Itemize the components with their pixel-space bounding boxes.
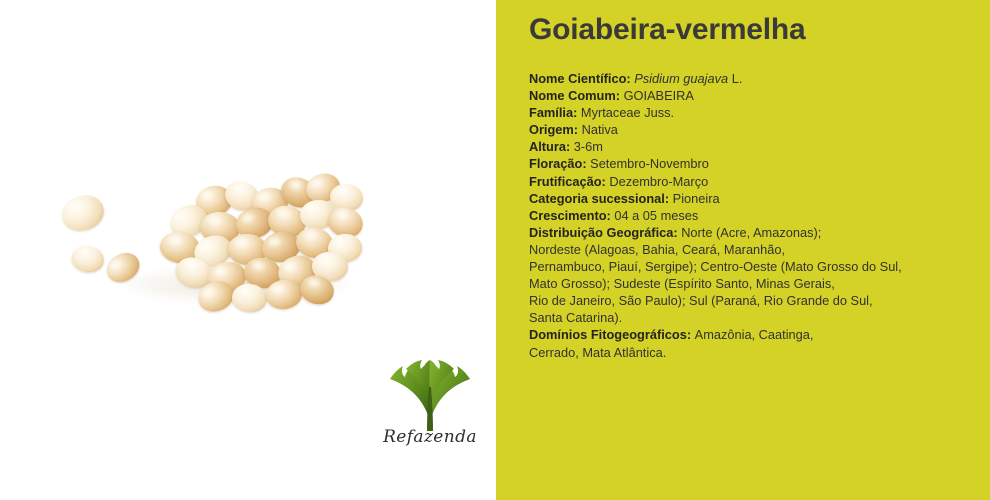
- fact-label: Crescimento:: [529, 208, 614, 223]
- fact-continuation-line: Mato Grosso); Sudeste (Espírito Santo, M…: [529, 275, 959, 292]
- fact-row: Domínios Fitogeográficos: Amazônia, Caat…: [529, 326, 959, 343]
- fact-continuation-line: Santa Catarina).: [529, 309, 959, 326]
- fact-label: Distribuição Geográfica:: [529, 225, 681, 240]
- fact-row: Nome Comum: GOIABEIRA: [529, 87, 959, 104]
- fact-label: Categoria sucessional:: [529, 191, 673, 206]
- fact-value: Dezembro-Março: [609, 174, 708, 189]
- page-title: Goiabeira-vermelha: [529, 13, 806, 47]
- fact-row: Altura: 3-6m: [529, 138, 959, 155]
- fact-label: Frutificação:: [529, 174, 609, 189]
- fact-value: GOIABEIRA: [624, 88, 694, 103]
- fact-label: Floração:: [529, 156, 590, 171]
- fact-value: 3-6m: [574, 139, 603, 154]
- refazenda-tree-icon: [374, 343, 486, 435]
- fact-row: Família: Myrtaceae Juss.: [529, 104, 959, 121]
- refazenda-logo: Refazenda: [374, 343, 486, 459]
- fact-row: Nome Científico: Psidium guajava L.: [529, 70, 959, 87]
- fact-row: Categoria sucessional: Pioneira: [529, 190, 959, 207]
- fact-continuation-line: Nordeste (Alagoas, Bahia, Ceará, Maranhã…: [529, 241, 959, 258]
- fact-row: Floração: Setembro-Novembro: [529, 155, 959, 172]
- fact-value: Psidium guajava: [634, 71, 728, 86]
- fact-continuation-line: Pernambuco, Piauí, Sergipe); Centro-Oest…: [529, 258, 959, 275]
- seed: [70, 243, 107, 275]
- fact-value: Norte (Acre, Amazonas);: [681, 225, 821, 240]
- fact-row: Crescimento: 04 a 05 meses: [529, 207, 959, 224]
- fact-row: Frutificação: Dezembro-Março: [529, 173, 959, 190]
- info-panel: Goiabeira-vermelha Nome Científico: Psid…: [496, 0, 990, 500]
- fact-value: Amazônia, Caatinga,: [695, 327, 814, 342]
- fact-value: Nativa: [582, 122, 618, 137]
- fact-continuation-line: Cerrado, Mata Atlântica.: [529, 344, 959, 361]
- fact-label: Nome Comum:: [529, 88, 624, 103]
- seed: [58, 191, 108, 235]
- fact-row: Origem: Nativa: [529, 121, 959, 138]
- fact-list: Nome Científico: Psidium guajava L.Nome …: [529, 70, 959, 361]
- fact-label: Altura:: [529, 139, 574, 154]
- fact-continuation-line: Rio de Janeiro, São Paulo); Sul (Paraná,…: [529, 292, 959, 309]
- refazenda-wordmark: Refazenda: [374, 427, 486, 447]
- fact-value: Myrtaceae Juss.: [581, 105, 674, 120]
- fact-value: 04 a 05 meses: [614, 208, 698, 223]
- plant-info-card: Refazenda Goiabeira-vermelha Nome Cientí…: [0, 0, 990, 500]
- fact-row: Distribuição Geográfica: Norte (Acre, Am…: [529, 224, 959, 241]
- fact-value-suffix: L.: [728, 71, 742, 86]
- fact-label: Nome Científico:: [529, 71, 634, 86]
- fact-label: Origem:: [529, 122, 582, 137]
- fact-label: Domínios Fitogeográficos:: [529, 327, 695, 342]
- fact-value: Setembro-Novembro: [590, 156, 709, 171]
- photo-panel: Refazenda: [0, 0, 496, 500]
- fact-value: Pioneira: [673, 191, 720, 206]
- fact-label: Família:: [529, 105, 581, 120]
